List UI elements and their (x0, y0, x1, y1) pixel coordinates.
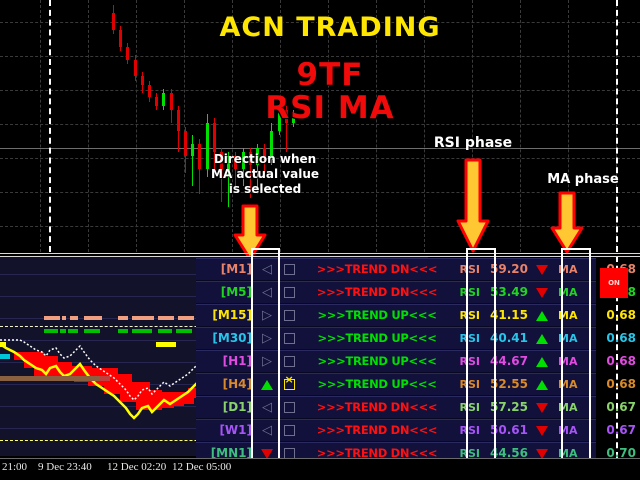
candle-body (112, 13, 115, 30)
direction-note-label: Direction when MA actual value is select… (185, 152, 345, 197)
candle-body (162, 93, 165, 106)
page-title-brand: ACN TRADING (180, 12, 480, 43)
rsi-phase-cell (532, 305, 552, 326)
page-title-line3: RSI MA (190, 90, 470, 126)
ma-value: 0.67 (592, 420, 636, 441)
checkbox-icon[interactable] (284, 356, 295, 367)
grid-line-v (88, 0, 89, 252)
timeframe-label: [H1] (196, 351, 252, 372)
direction-note-l2: MA actual value (211, 167, 319, 181)
select-checkbox[interactable] (280, 397, 298, 418)
rsi-phase-down-icon (536, 265, 548, 275)
axis-tick-label: 12 Dec 02:20 (107, 461, 166, 473)
ma-value: 0.68 (592, 305, 636, 326)
time-axis: 21:00 9 Dec 23:40 12 Dec 02:20 12 Dec 05… (0, 458, 640, 480)
grid-line-v (136, 0, 137, 252)
checkbox-icon[interactable] (284, 264, 295, 275)
timeframe-label: [H4] (196, 374, 252, 395)
select-checkbox[interactable] (280, 420, 298, 441)
rsi-phase-cell (532, 351, 552, 372)
axis-tick-label: 9 Dec 23:40 (38, 461, 92, 473)
candle-body (119, 30, 122, 47)
rsi-phase-down-icon (536, 403, 548, 413)
timeframe-label: [M1] (196, 259, 252, 280)
checkbox-icon[interactable] (284, 310, 295, 321)
trend-label: >>>TREND DN<<< (304, 282, 450, 303)
trend-label: >>>TREND UP<<< (304, 374, 450, 395)
rsi-phase-up-icon (536, 380, 548, 390)
candle-body (134, 60, 137, 77)
candle-body (213, 123, 216, 152)
trading-terminal-screenshot: ACN TRADING 9TF RSI MA Direction when MA… (0, 0, 640, 480)
checkbox-icon[interactable] (284, 287, 295, 298)
checkbox-icon[interactable] (284, 379, 295, 390)
select-checkbox[interactable] (280, 374, 298, 395)
ma-phase-note-label: MA phase (528, 172, 638, 187)
timeframe-label: [M30] (196, 328, 252, 349)
pane-separator (0, 256, 640, 257)
rsi-phase-cell (532, 374, 552, 395)
rsi-phase-cell (532, 282, 552, 303)
axis-rule (0, 458, 640, 459)
timeframe-label: [D1] (196, 397, 252, 418)
rsi-phase-cell (532, 397, 552, 418)
rsi-phase-up-icon (536, 311, 548, 321)
select-checkbox[interactable] (280, 328, 298, 349)
candle-body (148, 85, 151, 98)
rsi-phase-note-arrow-icon (455, 157, 491, 258)
trend-label: >>>TREND UP<<< (304, 328, 450, 349)
price-level-line (0, 148, 640, 149)
timeframe-label: [M5] (196, 282, 252, 303)
current-bar-line (616, 0, 618, 252)
axis-tick-label: 12 Dec 05:00 (172, 461, 231, 473)
rsi-phase-cell (532, 259, 552, 280)
timeframe-label: [W1] (196, 420, 252, 441)
axis-tick-label: 21:00 (2, 461, 27, 473)
rsi-phase-note-label: RSI phase (408, 136, 538, 151)
ma-value: 0.68 (592, 374, 636, 395)
candle-body (126, 47, 129, 60)
highlight-rsi-phase-column (466, 248, 496, 462)
trend-label: >>>TREND DN<<< (304, 397, 450, 418)
candle-body (170, 93, 173, 110)
candle-body (155, 97, 158, 105)
pane-separator (0, 253, 640, 254)
direction-note-l1: Direction when (214, 152, 316, 166)
candle-body (177, 110, 180, 131)
ma-value: 0.68 (592, 328, 636, 349)
grid-line-v (520, 0, 521, 252)
rsi-phase-cell (532, 420, 552, 441)
candle-body (141, 76, 144, 84)
ma-value: 0.67 (592, 397, 636, 418)
select-checkbox[interactable] (280, 259, 298, 280)
indicator-marker-brown (0, 376, 100, 381)
page-title-line2: 9TF (210, 57, 450, 93)
checkbox-icon[interactable] (284, 425, 295, 436)
highlight-ma-phase-column (561, 248, 591, 462)
rsi-phase-down-icon (536, 288, 548, 298)
indicator-marker-cyan (0, 354, 10, 359)
rsi-phase-down-icon (536, 449, 548, 459)
timeframe-label: [M15] (196, 305, 252, 326)
ma-value: 0.68 (592, 351, 636, 372)
rsi-phase-up-icon (536, 357, 548, 367)
select-checkbox[interactable] (280, 282, 298, 303)
on-toggle-button[interactable]: ON (600, 268, 628, 298)
rsi-phase-down-icon (536, 426, 548, 436)
grid-line-h (0, 226, 640, 227)
grid-line-v (40, 0, 41, 252)
trend-label: >>>TREND UP<<< (304, 305, 450, 326)
period-separator-line (49, 0, 51, 252)
rsi-phase-cell (532, 328, 552, 349)
highlight-direction-column (251, 248, 280, 462)
indicator-marker-red (100, 376, 110, 381)
trend-label: >>>TREND UP<<< (304, 351, 450, 372)
trend-label: >>>TREND DN<<< (304, 259, 450, 280)
checkbox-icon[interactable] (284, 333, 295, 344)
direction-note-l3: is selected (229, 182, 302, 196)
select-checkbox[interactable] (280, 305, 298, 326)
checkbox-icon[interactable] (284, 402, 295, 413)
trend-label: >>>TREND DN<<< (304, 420, 450, 441)
select-checkbox[interactable] (280, 351, 298, 372)
rsi-phase-up-icon (536, 334, 548, 344)
